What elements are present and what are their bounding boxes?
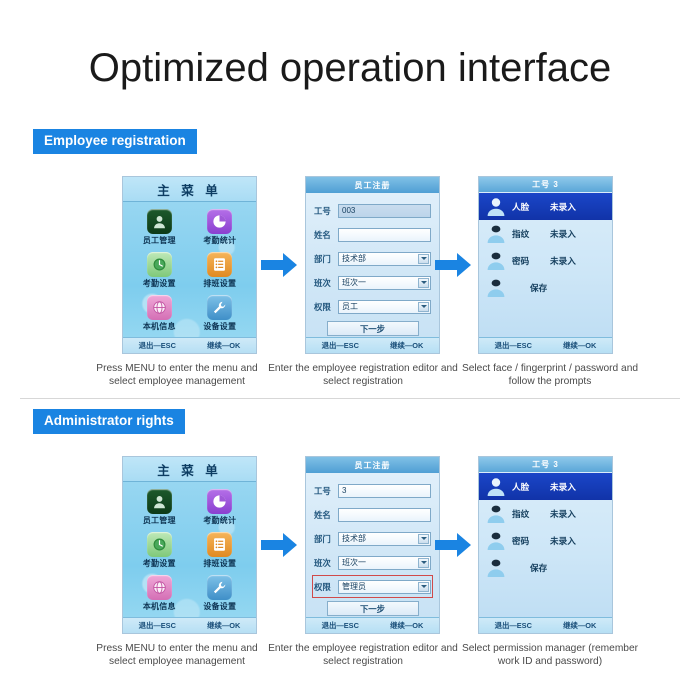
slide-root: Optimized operation interface Employee r… — [0, 0, 700, 700]
user-badge-icon — [147, 489, 172, 514]
permission-label: 权限 — [314, 581, 338, 593]
menu-item-label: 员工管理 — [143, 235, 176, 246]
field-row-permission-highlighted: 权限 管理员 — [314, 577, 431, 596]
device-screen-main-menu[interactable]: 主 菜 单 员工管理 考勤统计 — [122, 176, 257, 354]
registration-form-screen: 员工注册 工号 003 姓名 部 — [306, 177, 439, 353]
work-id-label: 工号 — [314, 205, 338, 217]
pie-chart-icon — [207, 209, 232, 234]
enrollment-list-screen: 工号 3 人脸 未录入 指纹 未录入 — [479, 457, 612, 633]
menu-item-device-info[interactable]: 本机信息 — [129, 292, 190, 335]
person-password-icon — [484, 250, 508, 272]
device-screen-main-menu[interactable]: 主 菜 单 员工管理 考勤统计 — [122, 456, 257, 634]
enroll-row-save[interactable]: 保存 — [479, 274, 612, 301]
permission-label: 权限 — [314, 301, 338, 313]
footer-confirm-label: 继续—OK — [207, 340, 240, 351]
menu-item-attendance-statistics[interactable]: 考勤统计 — [190, 486, 251, 529]
person-face-icon — [484, 476, 508, 498]
footer-exit-label: 退出—ESC — [139, 620, 176, 631]
menu-item-label: 员工管理 — [143, 515, 176, 526]
footer-exit-label: 退出—ESC — [322, 340, 359, 351]
enroll-title: 工号 3 — [479, 177, 612, 192]
registration-form-footer: 退出—ESC 继续—OK — [306, 617, 439, 633]
field-row-department: 部门 技术部 — [314, 249, 431, 268]
main-menu-grid: 员工管理 考勤统计 考勤设置 — [123, 203, 256, 335]
enroll-row-face[interactable]: 人脸 未录入 — [479, 473, 612, 500]
department-select[interactable]: 技术部 — [338, 252, 431, 266]
main-menu-title: 主 菜 单 — [123, 177, 256, 202]
registration-form-screen: 员工注册 工号 3 姓名 部门 — [306, 457, 439, 633]
menu-item-device-settings[interactable]: 设备设置 — [190, 572, 251, 615]
menu-item-label: 排班设置 — [203, 558, 236, 569]
enroll-row-label: 保存 — [530, 562, 547, 574]
step-caption-3: Select permission manager (remember work… — [455, 642, 645, 668]
flow-arrow-right-icon — [259, 248, 299, 282]
chevron-down-icon[interactable] — [418, 254, 429, 264]
field-row-shift: 班次 班次一 — [314, 273, 431, 292]
chevron-down-icon[interactable] — [418, 302, 429, 312]
enroll-row-save[interactable]: 保存 — [479, 554, 612, 581]
field-row-shift: 班次 班次一 — [314, 553, 431, 572]
device-screen-registration-form[interactable]: 员工注册 工号 003 姓名 部 — [305, 176, 440, 354]
enroll-title: 工号 3 — [479, 457, 612, 472]
wrench-icon — [207, 295, 232, 320]
shift-select[interactable]: 班次一 — [338, 556, 431, 570]
field-row-work-id: 工号 003 — [314, 201, 431, 220]
enroll-row-value: 未录入 — [550, 481, 576, 493]
globe-info-icon — [147, 295, 172, 320]
department-value: 技术部 — [342, 253, 366, 264]
enroll-row-label: 指纹 — [512, 228, 542, 240]
name-input[interactable] — [338, 508, 431, 522]
footer-confirm-label: 继续—OK — [390, 340, 423, 351]
shift-select[interactable]: 班次一 — [338, 276, 431, 290]
step-caption-2: Enter the employee registration editor a… — [268, 642, 458, 668]
footer-exit-label: 退出—ESC — [495, 620, 532, 631]
menu-item-employee-management[interactable]: 员工管理 — [129, 486, 190, 529]
flow-arrow-right-icon — [433, 248, 473, 282]
permission-value: 员工 — [342, 301, 358, 312]
enroll-row-label: 密码 — [512, 535, 542, 547]
form-actions: 下一步 — [314, 321, 431, 336]
menu-item-label: 设备设置 — [203, 321, 236, 332]
permission-select[interactable]: 员工 — [338, 300, 431, 314]
enroll-row-value: 未录入 — [550, 255, 576, 267]
person-face-icon — [484, 196, 508, 218]
enroll-row-label: 保存 — [530, 282, 547, 294]
enroll-row-label: 人脸 — [512, 201, 542, 213]
field-row-name: 姓名 — [314, 225, 431, 244]
enrollment-list-footer: 退出—ESC 继续—OK — [479, 337, 612, 353]
work-id-input[interactable]: 3 — [338, 484, 431, 498]
person-fingerprint-icon — [484, 223, 508, 245]
enroll-row-password[interactable]: 密码 未录入 — [479, 527, 612, 554]
chevron-down-icon[interactable] — [418, 534, 429, 544]
department-label: 部门 — [314, 533, 338, 545]
field-row-work-id: 工号 3 — [314, 481, 431, 500]
menu-item-label: 考勤设置 — [143, 278, 176, 289]
flow-arrow-right-icon — [433, 528, 473, 562]
footer-confirm-label: 继续—OK — [563, 340, 596, 351]
enroll-row-value: 未录入 — [550, 535, 576, 547]
registration-form-footer: 退出—ESC 继续—OK — [306, 337, 439, 353]
page-title: Optimized operation interface — [0, 46, 700, 91]
enroll-row-label: 指纹 — [512, 508, 542, 520]
shift-label: 班次 — [314, 277, 338, 289]
enrollment-list-screen: 工号 3 人脸 未录入 指纹 未录入 — [479, 177, 612, 353]
user-badge-icon — [147, 209, 172, 234]
work-id-value: 3 — [342, 486, 346, 495]
enroll-row-password[interactable]: 密码 未录入 — [479, 247, 612, 274]
menu-item-attendance-settings[interactable]: 考勤设置 — [129, 529, 190, 572]
enroll-row-fingerprint[interactable]: 指纹 未录入 — [479, 500, 612, 527]
shift-value: 班次一 — [342, 557, 366, 568]
shift-label: 班次 — [314, 557, 338, 569]
enroll-row-value: 未录入 — [550, 201, 576, 213]
enroll-rows: 人脸 未录入 指纹 未录入 密码 — [479, 473, 612, 616]
permission-value: 管理员 — [342, 581, 366, 592]
footer-confirm-label: 继续—OK — [207, 620, 240, 631]
enroll-row-value: 未录入 — [550, 508, 576, 520]
permission-select[interactable]: 管理员 — [338, 580, 431, 594]
enroll-row-label: 密码 — [512, 255, 542, 267]
step-caption-2: Enter the employee registration editor a… — [268, 362, 458, 388]
step-caption-1: Press MENU to enter the menu and select … — [82, 642, 272, 668]
main-menu-footer: 退出—ESC 继续—OK — [123, 617, 256, 633]
menu-item-label: 排班设置 — [203, 278, 236, 289]
footer-exit-label: 退出—ESC — [139, 340, 176, 351]
list-clipboard-icon — [207, 532, 232, 557]
form-title: 员工注册 — [306, 177, 439, 193]
chevron-down-icon[interactable] — [418, 582, 429, 592]
field-row-department: 部门 技术部 — [314, 529, 431, 548]
flow-row-employee-registration: 主 菜 单 员工管理 考勤统计 — [0, 170, 700, 400]
menu-item-label: 考勤设置 — [143, 558, 176, 569]
next-step-button[interactable]: 下一步 — [327, 321, 419, 336]
main-menu-screen: 主 菜 单 员工管理 考勤统计 — [123, 177, 256, 353]
name-label: 姓名 — [314, 229, 338, 241]
footer-exit-label: 退出—ESC — [322, 620, 359, 631]
wrench-icon — [207, 575, 232, 600]
device-screen-registration-form-admin[interactable]: 员工注册 工号 3 姓名 部门 — [305, 456, 440, 634]
main-menu-screen: 主 菜 单 员工管理 考勤统计 — [123, 457, 256, 633]
work-id-input[interactable]: 003 — [338, 204, 431, 218]
device-screen-enrollment-list[interactable]: 工号 3 人脸 未录入 指纹 未录入 — [478, 456, 613, 634]
enroll-row-fingerprint[interactable]: 指纹 未录入 — [479, 220, 612, 247]
list-clipboard-icon — [207, 252, 232, 277]
enroll-row-label: 人脸 — [512, 481, 542, 493]
main-menu-grid: 员工管理 考勤统计 考勤设置 — [123, 483, 256, 615]
person-save-icon — [484, 557, 508, 579]
name-input[interactable] — [338, 228, 431, 242]
shift-value: 班次一 — [342, 277, 366, 288]
field-row-permission: 权限 员工 — [314, 297, 431, 316]
chevron-down-icon[interactable] — [418, 558, 429, 568]
step-caption-3: Select face / fingerprint / password and… — [455, 362, 645, 388]
menu-item-attendance-statistics[interactable]: 考勤统计 — [190, 206, 251, 249]
person-save-icon — [484, 277, 508, 299]
menu-item-device-settings[interactable]: 设备设置 — [190, 292, 251, 335]
pie-chart-icon — [207, 489, 232, 514]
clock-check-icon — [147, 532, 172, 557]
footer-confirm-label: 继续—OK — [563, 620, 596, 631]
name-label: 姓名 — [314, 509, 338, 521]
form-actions: 下一步 — [314, 601, 431, 616]
chevron-down-icon[interactable] — [418, 278, 429, 288]
footer-exit-label: 退出—ESC — [495, 340, 532, 351]
footer-confirm-label: 继续—OK — [390, 620, 423, 631]
flow-arrow-right-icon — [259, 528, 299, 562]
enroll-row-value: 未录入 — [550, 228, 576, 240]
next-step-button[interactable]: 下一步 — [327, 601, 419, 616]
form-title: 员工注册 — [306, 457, 439, 473]
globe-info-icon — [147, 575, 172, 600]
enroll-rows: 人脸 未录入 指纹 未录入 密码 — [479, 193, 612, 336]
department-label: 部门 — [314, 253, 338, 265]
menu-item-attendance-settings[interactable]: 考勤设置 — [129, 249, 190, 292]
person-password-icon — [484, 530, 508, 552]
work-id-value: 003 — [342, 206, 355, 215]
menu-item-label: 设备设置 — [203, 601, 236, 612]
department-select[interactable]: 技术部 — [338, 532, 431, 546]
form-body: 工号 003 姓名 部门 技术部 — [306, 195, 439, 336]
main-menu-title: 主 菜 单 — [123, 457, 256, 482]
clock-check-icon — [147, 252, 172, 277]
menu-item-shift-settings[interactable]: 排班设置 — [190, 529, 251, 572]
step-caption-1: Press MENU to enter the menu and select … — [82, 362, 272, 388]
main-menu-footer: 退出—ESC 继续—OK — [123, 337, 256, 353]
menu-item-device-info[interactable]: 本机信息 — [129, 572, 190, 615]
device-screen-enrollment-list[interactable]: 工号 3 人脸 未录入 指纹 未录入 — [478, 176, 613, 354]
menu-item-shift-settings[interactable]: 排班设置 — [190, 249, 251, 292]
field-row-name: 姓名 — [314, 505, 431, 524]
menu-item-label: 考勤统计 — [203, 515, 236, 526]
menu-item-label: 本机信息 — [143, 601, 176, 612]
person-fingerprint-icon — [484, 503, 508, 525]
flow-row-administrator-rights: 主 菜 单 员工管理 考勤统计 — [0, 450, 700, 690]
section-badge-employee-registration: Employee registration — [33, 129, 197, 154]
enroll-row-face[interactable]: 人脸 未录入 — [479, 193, 612, 220]
section-badge-administrator-rights: Administrator rights — [33, 409, 185, 434]
department-value: 技术部 — [342, 533, 366, 544]
work-id-label: 工号 — [314, 485, 338, 497]
menu-item-label: 本机信息 — [143, 321, 176, 332]
menu-item-label: 考勤统计 — [203, 235, 236, 246]
enrollment-list-footer: 退出—ESC 继续—OK — [479, 617, 612, 633]
form-body: 工号 3 姓名 部门 技术部 — [306, 475, 439, 616]
menu-item-employee-management[interactable]: 员工管理 — [129, 206, 190, 249]
